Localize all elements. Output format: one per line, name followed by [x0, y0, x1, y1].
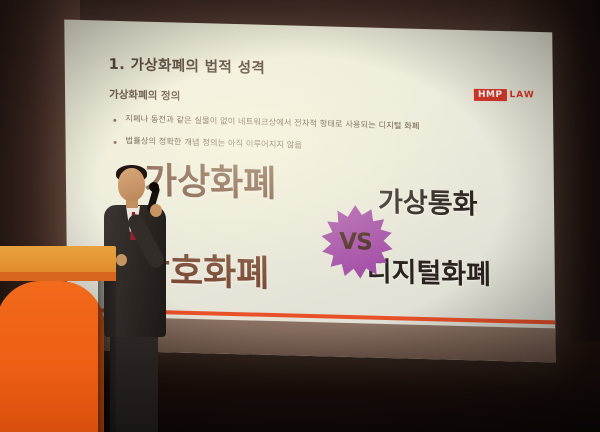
bullet-dot-icon [113, 119, 116, 122]
vs-label: VS [318, 204, 393, 280]
lectern-shadow [98, 281, 116, 432]
list-item: 지폐나 동전과 같은 실물이 없이 네트워크상에서 전자적 형태로 사용되는 디… [113, 113, 523, 134]
bullet-text: 법률상의 정확한 개념 정의는 아직 이루어지지 않음 [125, 135, 302, 150]
slide-subtitle: 가상화폐의 정의 [109, 87, 180, 104]
slide-title: 1. 가상화폐의 법적 성격 [109, 53, 266, 78]
hmp-law-logo: HMP LAW [474, 89, 535, 102]
speaker-mic-hand [150, 204, 162, 217]
logo-mark-text: HMP [474, 89, 507, 101]
bullet-dot-icon [114, 141, 117, 144]
microphone-head-icon [149, 182, 159, 192]
logo-word-text: LAW [510, 90, 535, 100]
lectern-body [0, 281, 104, 432]
lectern-top-surface [0, 246, 116, 274]
lectern-lip [0, 272, 116, 281]
speaker-head [118, 168, 145, 201]
bullet-text: 지폐나 동전과 같은 실물이 없이 네트워크상에서 전자적 형태로 사용되는 디… [125, 113, 419, 131]
photo-scene: 1. 가상화폐의 법적 성격 가상화폐의 정의 지폐나 동전과 같은 실물이 없… [0, 0, 600, 432]
lectern [0, 246, 116, 432]
speaker-lower-hand [116, 254, 127, 266]
vs-starburst-badge: VS [318, 204, 393, 280]
word-art-virtual-money: 가상통화 [378, 180, 478, 222]
speaker-legs [110, 334, 158, 432]
